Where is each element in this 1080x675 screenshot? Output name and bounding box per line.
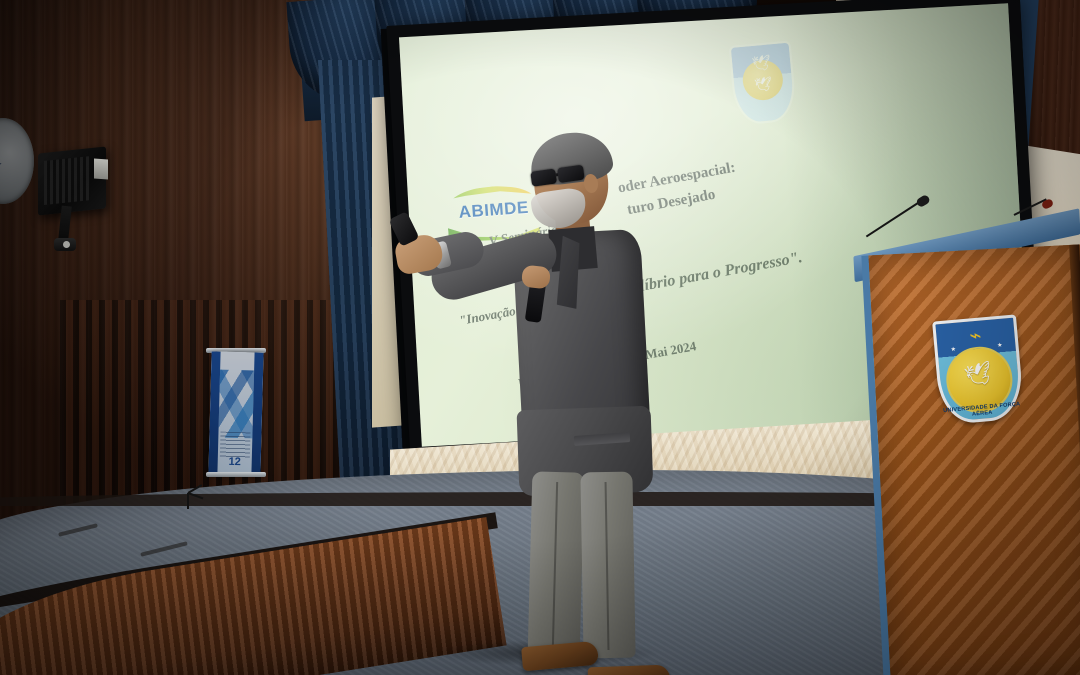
dove-icon: 🕊 [963,362,995,390]
mic-rod [1014,198,1047,216]
loudspeaker [38,146,106,215]
banner-bottom-bar [206,472,266,477]
star-icon: ★ [997,342,1003,349]
emblem-dim-overlay [0,118,34,204]
trousers [530,472,642,658]
shoe-left [521,641,599,672]
shoe-right [588,665,671,675]
unifa-emblem: ⌁ ★ ★ 🕊 UNIVERSIDADE DA FORÇA AÉREA [932,314,1025,425]
podium-front-face: ⌁ ★ ★ 🕊 UNIVERSIDADE DA FORÇA AÉREA [861,244,1080,675]
wings-icon: ⌁ [969,325,983,346]
mic-rod [866,202,919,237]
banner-dim-overlay [208,351,263,474]
presenter [438,140,698,675]
star-icon: ★ [950,346,956,353]
mic-stand-base [188,488,220,500]
speaker-grill [44,156,90,205]
podium: ⌁ ★ ★ 🕊 UNIVERSIDADE DA FORÇA AÉREA [856,227,1080,675]
auditorium-photo: ★ ABIMDE [0,0,1080,675]
secondary-microphone [1014,196,1054,218]
leg-right [580,472,635,659]
speaker-tweeter [94,158,108,179]
star-emblem: ★ [0,118,34,204]
roll-up-banner: 12 [208,351,263,474]
leg-left [528,471,585,658]
podium-microphone [865,198,931,241]
hand-holding-microphone [521,265,551,290]
speaker-mount-knob [54,238,76,251]
